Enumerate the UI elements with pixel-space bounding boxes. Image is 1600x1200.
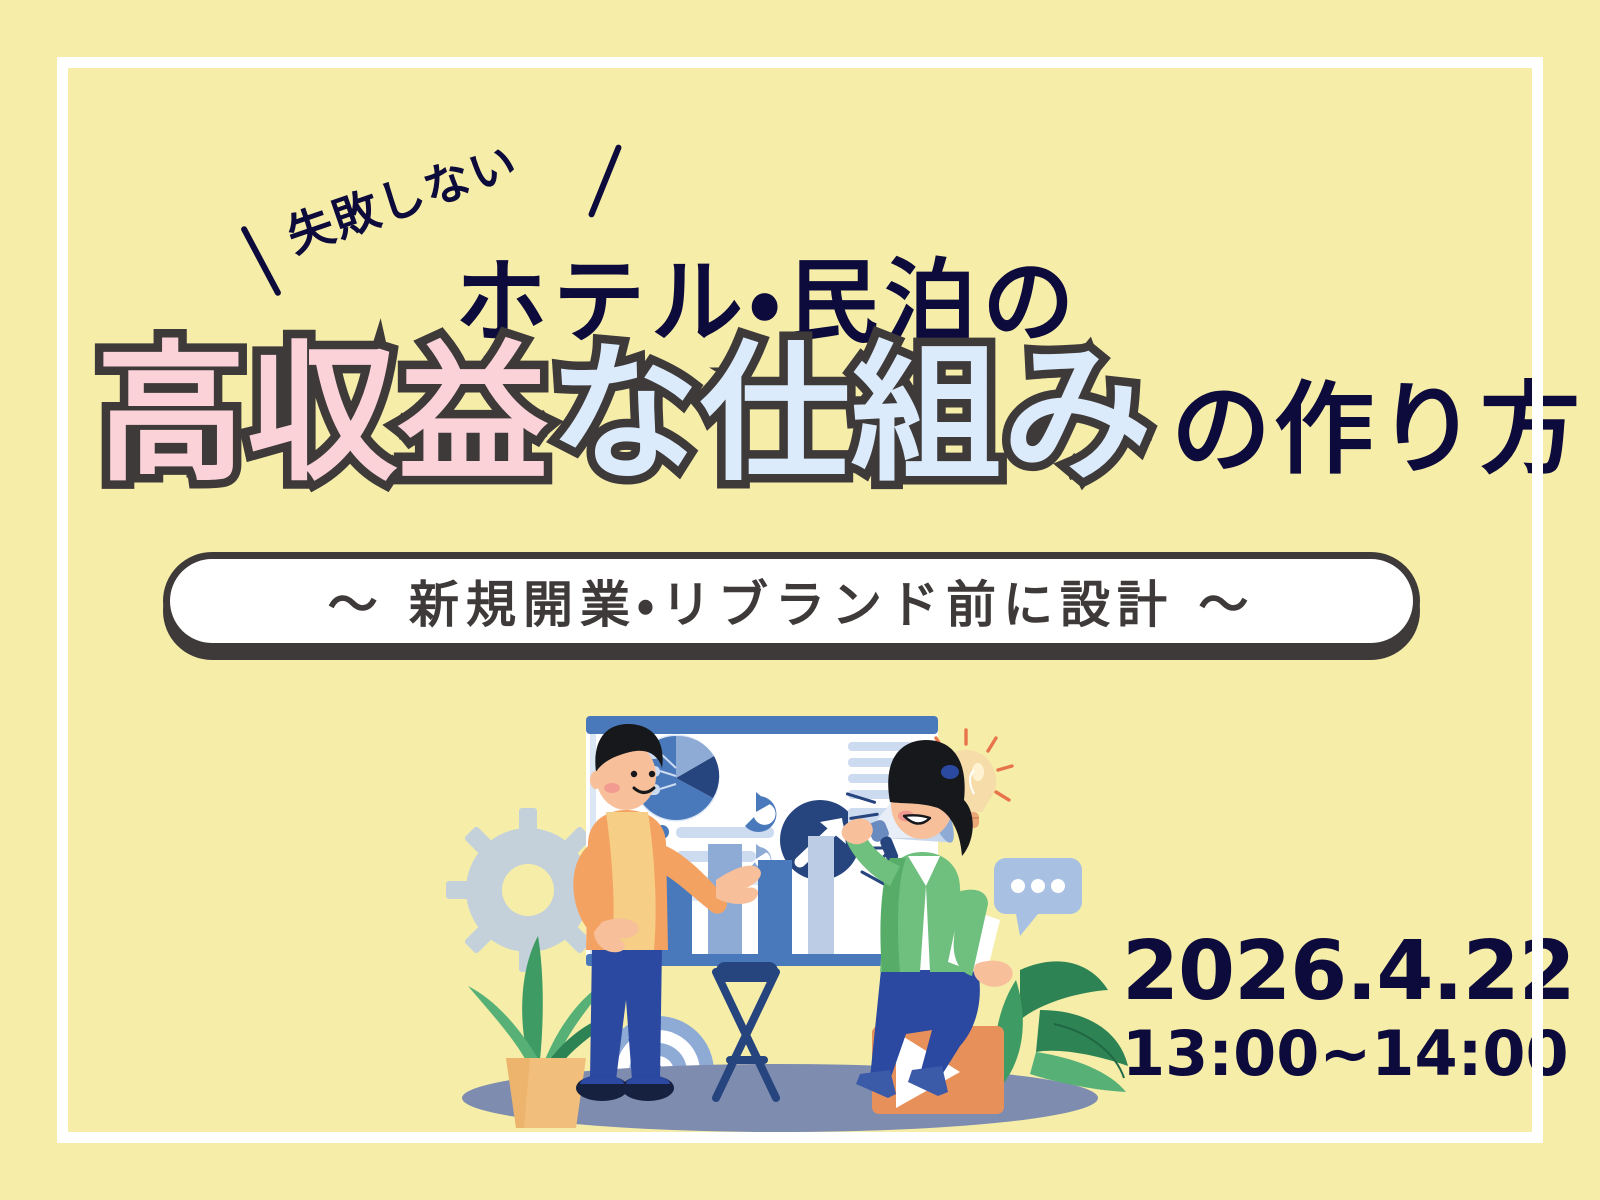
event-date: 2026.4.22 [1122,930,1575,1014]
tagline-slash-right-icon [588,144,623,219]
subtitle-pill: 〜 新規開業・リブランド前に設計 〜 [163,552,1420,660]
speech-bubble-icon [994,858,1082,936]
title-highlight-pink: 高収益 [96,340,549,490]
title-line-2: 高収益 な仕組み の作り方 [96,340,1583,490]
event-time: 13:00~14:00 [1122,1020,1575,1088]
title-tail: の作り方 [1171,380,1583,490]
business-presentation-illustration [420,680,1140,1150]
schedule-block: 2026.4.22 13:00~14:00 [1122,930,1575,1088]
banner-canvas: 失敗しない ホテル・民泊の 高収益 な仕組み の作り方 〜 新規開業・リブランド… [0,0,1600,1200]
tagline-slash-left-icon [240,225,282,297]
subtitle-text: 〜 新規開業・リブランド前に設計 〜 [328,565,1256,637]
tropical-leaves-right [994,961,1128,1092]
title-highlight-blue: な仕組み [549,340,1153,490]
subtitle-pill-body: 〜 新規開業・リブランド前に設計 〜 [163,552,1420,650]
